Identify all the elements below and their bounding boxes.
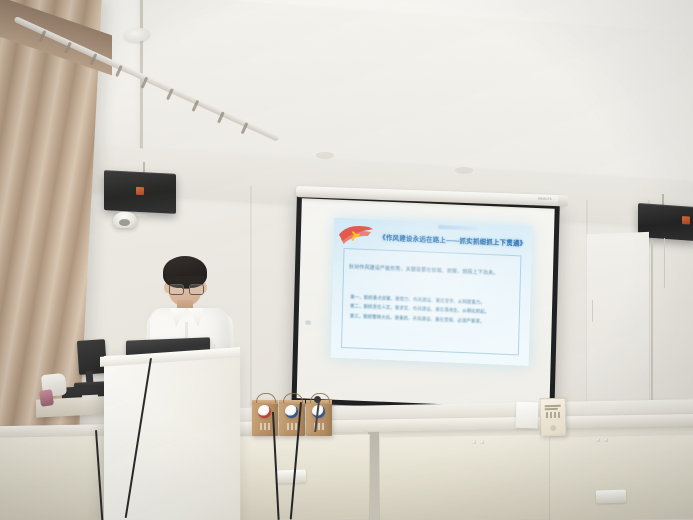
microphone-head xyxy=(314,396,321,403)
wall-conduit xyxy=(651,240,653,400)
desk-screw-6 xyxy=(604,438,608,442)
desk-panel-4 xyxy=(549,435,693,520)
bag-print-1 xyxy=(260,423,270,430)
desk-screw-5 xyxy=(596,438,600,442)
tent-line-2 xyxy=(545,408,558,410)
slide-decoration-tag xyxy=(438,225,478,231)
desk-latch-1 xyxy=(276,469,306,483)
screen-surface: 《作风建设永远在路上——抓实抓细抓上下贯通》 针对作风建设产能形势，关键是要在前… xyxy=(297,198,555,409)
bag-sticker-2 xyxy=(285,405,298,418)
roller-end-cap xyxy=(558,195,568,206)
eyeglasses xyxy=(169,284,202,293)
projection-screen[interactable]: 《作风建设永远在路上——抓实抓细抓上下贯通》 针对作风建设产能形势，关键是要在前… xyxy=(292,193,560,414)
ceiling-fixture-b xyxy=(455,167,473,174)
screen-edge-mark xyxy=(306,320,311,324)
slide-title-banner: 《作风建设永远在路上——抓实抓细抓上下贯通》 xyxy=(380,229,526,251)
dome-security-camera xyxy=(113,212,137,228)
desk-screw-4 xyxy=(480,440,484,444)
speaker-logo-right xyxy=(682,216,690,225)
computer-label xyxy=(82,395,98,401)
lectern-podium xyxy=(104,351,240,520)
right-wall-panel xyxy=(586,232,649,404)
speaker-logo-left xyxy=(136,187,144,195)
loose-paper xyxy=(516,402,539,429)
speaker-cable-right xyxy=(664,238,665,288)
wall-hook xyxy=(592,300,593,322)
pink-pouch xyxy=(39,389,54,407)
bag-handle-1 xyxy=(256,393,276,403)
slide-title: 《作风建设永远在路上——抓实抓细抓上下贯通》 xyxy=(379,232,526,247)
projected-slide: 《作风建设永远在路上——抓实抓细抓上下贯通》 针对作风建设产能形势，关键是要在前… xyxy=(331,218,533,366)
ceiling-fixture-a xyxy=(316,152,334,159)
classroom-photo-scene: REMOTE 《作风建设永远在路上——抓实抓细抓上下贯通》 xyxy=(0,0,693,520)
desk-screw-3 xyxy=(472,440,476,444)
desk-panel-3 xyxy=(379,434,551,520)
table-tent-card xyxy=(540,398,567,437)
wall-speaker-left xyxy=(104,170,176,214)
desk-latch-2 xyxy=(596,489,626,503)
bag-print-2 xyxy=(287,423,297,430)
bag-sticker-1 xyxy=(258,405,271,418)
tent-seal xyxy=(550,425,556,431)
tent-text-block xyxy=(546,412,560,418)
wall-seam-1 xyxy=(250,186,252,406)
roller-label: REMOTE xyxy=(538,196,552,200)
tent-line-1 xyxy=(545,405,561,407)
